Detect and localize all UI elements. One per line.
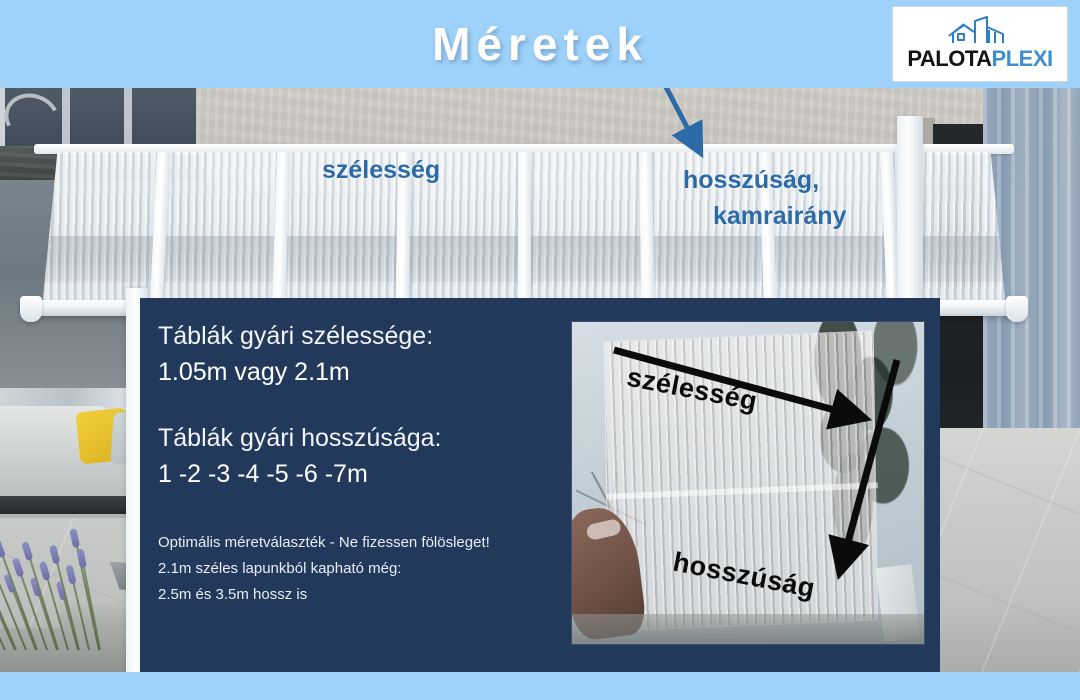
note-block: Optimális méretválaszték - Ne fizessen f… bbox=[158, 530, 568, 608]
building-roof-icon bbox=[943, 15, 1017, 47]
roof-length-label: hosszúság, kamrairány bbox=[683, 162, 846, 234]
roof-width-label: szélesség bbox=[322, 156, 440, 185]
brand-wordmark: PALOTAPLEXI bbox=[907, 47, 1052, 71]
specs-info-panel: Táblák gyári szélessége: 1.05m vagy 2.1m… bbox=[140, 298, 940, 672]
length-heading: Táblák gyári hosszúsága: bbox=[158, 420, 568, 456]
length-value: 1 -2 -3 -4 -5 -6 -7m bbox=[158, 456, 568, 492]
spec-spacer bbox=[158, 390, 568, 420]
width-heading: Táblák gyári szélessége: bbox=[158, 318, 568, 354]
roof-length-label-line1: hosszúság, bbox=[683, 166, 819, 194]
note-line-1: Optimális méretválaszték - Ne fizessen f… bbox=[158, 530, 568, 556]
note-line-3: 2.5m és 3.5m hossz is bbox=[158, 582, 568, 608]
note-line-2: 2.1m széles lapunkból kapható még: bbox=[158, 556, 568, 582]
infographic-canvas: szélesség hosszúság, kamrairány Táblák g… bbox=[0, 0, 1080, 700]
roof-length-label-line2: kamrairány bbox=[683, 198, 846, 234]
brand-logo[interactable]: PALOTAPLEXI bbox=[892, 6, 1068, 82]
width-value: 1.05m vagy 2.1m bbox=[158, 354, 568, 390]
header-bar: Méretek PALOTAPLEXI bbox=[0, 0, 1080, 88]
brand-word-plexi: PLEXI bbox=[992, 46, 1053, 71]
specs-text-block: Táblák gyári szélessége: 1.05m vagy 2.1m… bbox=[158, 318, 568, 608]
brand-word-palota: PALOTA bbox=[907, 46, 991, 71]
inset-product-photo: szélesség hosszúság bbox=[572, 322, 924, 644]
inset-ground bbox=[572, 614, 924, 644]
